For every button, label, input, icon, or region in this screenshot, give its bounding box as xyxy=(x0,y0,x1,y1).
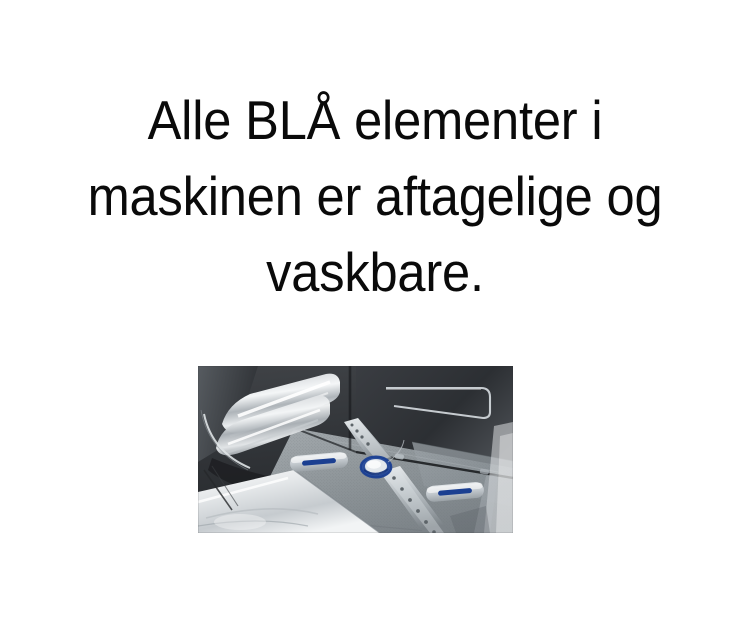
dishwasher-interior-photo xyxy=(198,366,513,533)
slide-title-line-2: maskinen er aftagelige og xyxy=(30,158,720,234)
slide-title: Alle BLÅ elementer i maskinen er aftagel… xyxy=(30,82,720,310)
slide-canvas: Alle BLÅ elementer i maskinen er aftagel… xyxy=(0,0,750,630)
slide-title-line-3: vaskbare. xyxy=(30,234,720,310)
dishwasher-interior-illustration xyxy=(198,366,513,533)
slide-title-line-1: Alle BLÅ elementer i xyxy=(30,82,720,158)
